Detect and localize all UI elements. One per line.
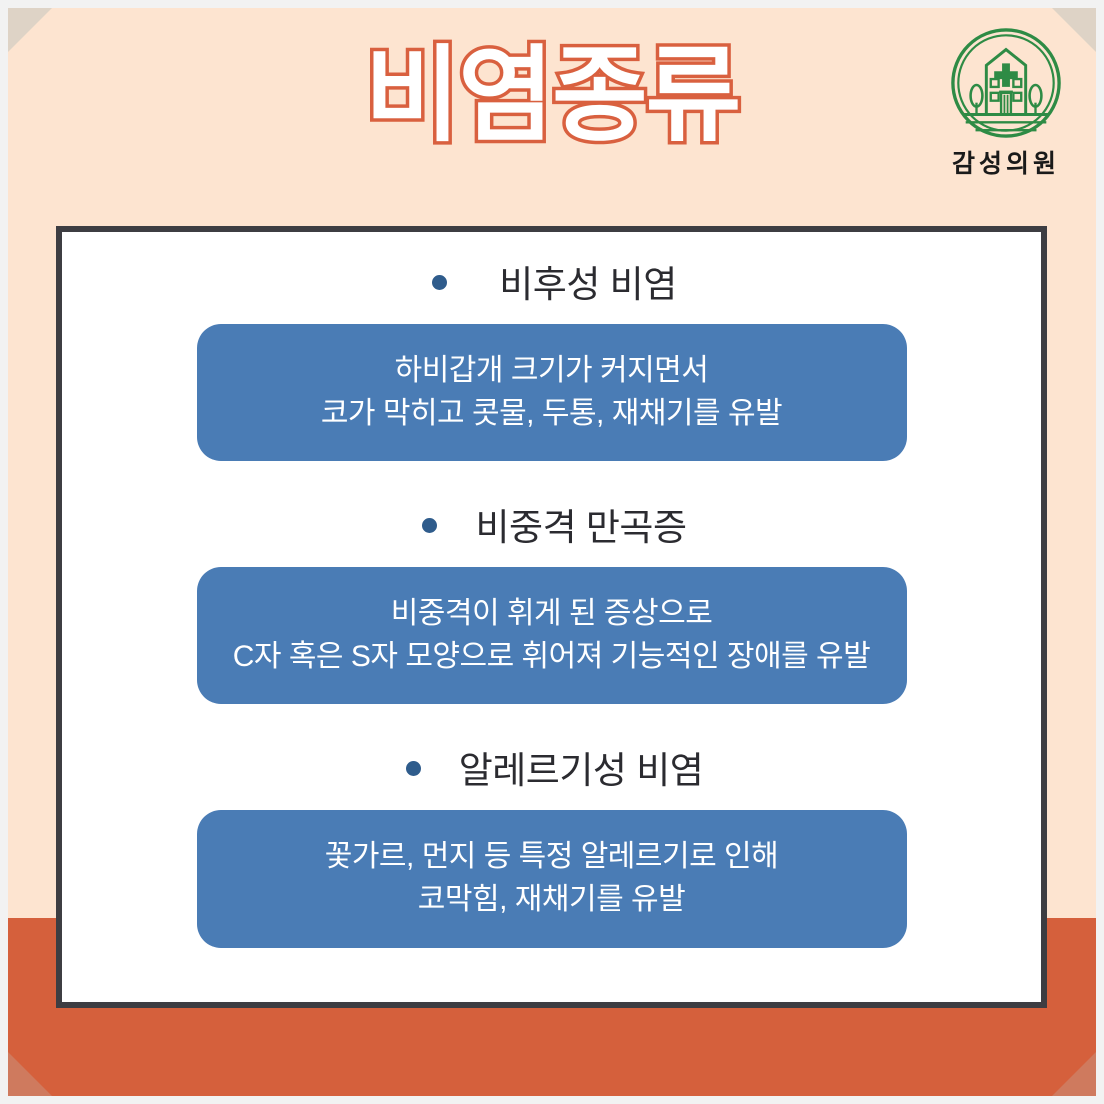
section-heading: 비후성 비염 — [62, 254, 1041, 308]
corner-fold-bottom-left — [8, 1046, 58, 1096]
info-line: 코가 막히고 콧물, 두통, 재채기를 유발 — [217, 393, 887, 436]
info-line: 비중격이 휘게 된 증상으로 — [217, 593, 887, 636]
section-heading-label: 비중격 만곡증 — [475, 497, 686, 551]
section-deviated-septum: 비중격 만곡증 비중격이 휘게 된 증상으로 C자 혹은 S자 모양으로 휘어져… — [62, 497, 1041, 704]
corner-fold-bottom-right — [1046, 1046, 1096, 1096]
info-line: 꽃가르, 먼지 등 특정 알레르기로 인해 — [217, 836, 887, 879]
info-line: 하비갑개 크기가 커지면서 — [217, 350, 887, 393]
bullet-dot-icon — [422, 518, 437, 533]
bullet-dot-icon — [406, 761, 421, 776]
section-heading-label: 알레르기성 비염 — [459, 740, 704, 794]
section-hypertrophic-rhinitis: 비후성 비염 하비갑개 크기가 커지면서 코가 막히고 콧물, 두통, 재채기를… — [62, 254, 1041, 461]
section-info-box: 꽃가르, 먼지 등 특정 알레르기로 인해 코막힘, 재채기를 유발 — [197, 810, 907, 947]
corner-fold-top-left — [8, 8, 58, 58]
info-line: C자 혹은 S자 모양으로 휘어져 기능적인 장애를 유발 — [217, 636, 887, 679]
section-info-box: 하비갑개 크기가 커지면서 코가 막히고 콧물, 두통, 재채기를 유발 — [197, 324, 907, 461]
poster-root: 비염종류 — [0, 0, 1104, 1104]
bullet-dot-icon — [432, 275, 447, 290]
section-allergic-rhinitis: 알레르기성 비염 꽃가르, 먼지 등 특정 알레르기로 인해 코막힘, 재채기를… — [62, 740, 1041, 947]
info-line: 코막힘, 재채기를 유발 — [217, 879, 887, 922]
corner-fold-top-right — [1046, 8, 1096, 58]
sections-list: 비후성 비염 하비갑개 크기가 커지면서 코가 막히고 콧물, 두통, 재채기를… — [62, 232, 1041, 1002]
section-heading-label: 비후성 비염 — [499, 254, 676, 308]
content-card: 비후성 비염 하비갑개 크기가 커지면서 코가 막히고 콧물, 두통, 재채기를… — [56, 226, 1047, 1008]
clinic-name: 감성의원 — [936, 144, 1076, 180]
section-heading: 비중격 만곡증 — [62, 497, 1041, 551]
section-heading: 알레르기성 비염 — [62, 740, 1041, 794]
section-info-box: 비중격이 휘게 된 증상으로 C자 혹은 S자 모양으로 휘어져 기능적인 장애… — [197, 567, 907, 704]
